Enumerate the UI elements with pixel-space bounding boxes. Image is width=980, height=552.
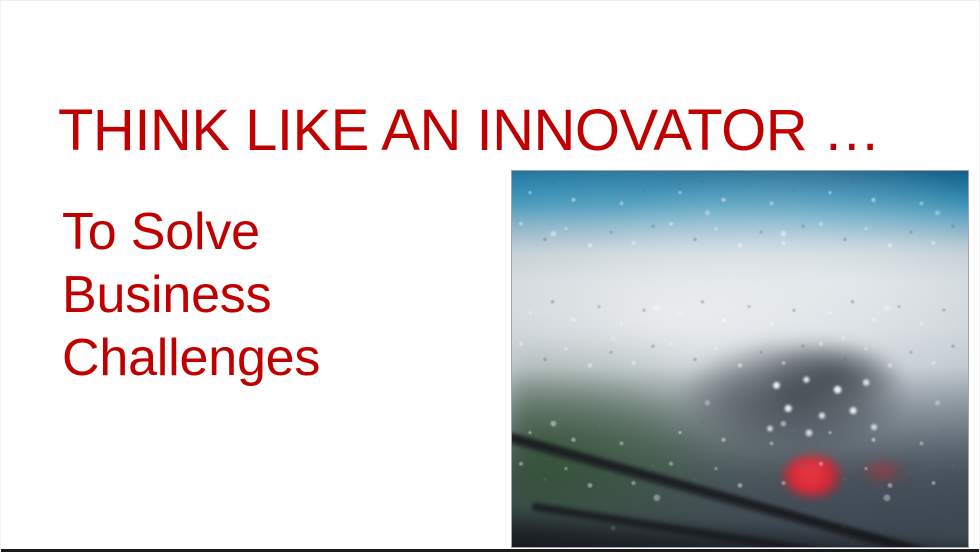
- presentation-slide: THINK LIKE AN INNOVATOR … To Solve Busin…: [0, 0, 980, 552]
- body-line-1: To Solve: [62, 201, 462, 264]
- photo-defocus-wash: [512, 171, 968, 547]
- body-line-2: Business: [62, 264, 462, 327]
- rainy-windshield-photo: [512, 171, 968, 547]
- body-line-3: Challenges: [62, 327, 462, 390]
- slide-body-text: To Solve Business Challenges: [62, 201, 462, 390]
- slide-title: THINK LIKE AN INNOVATOR …: [58, 100, 938, 162]
